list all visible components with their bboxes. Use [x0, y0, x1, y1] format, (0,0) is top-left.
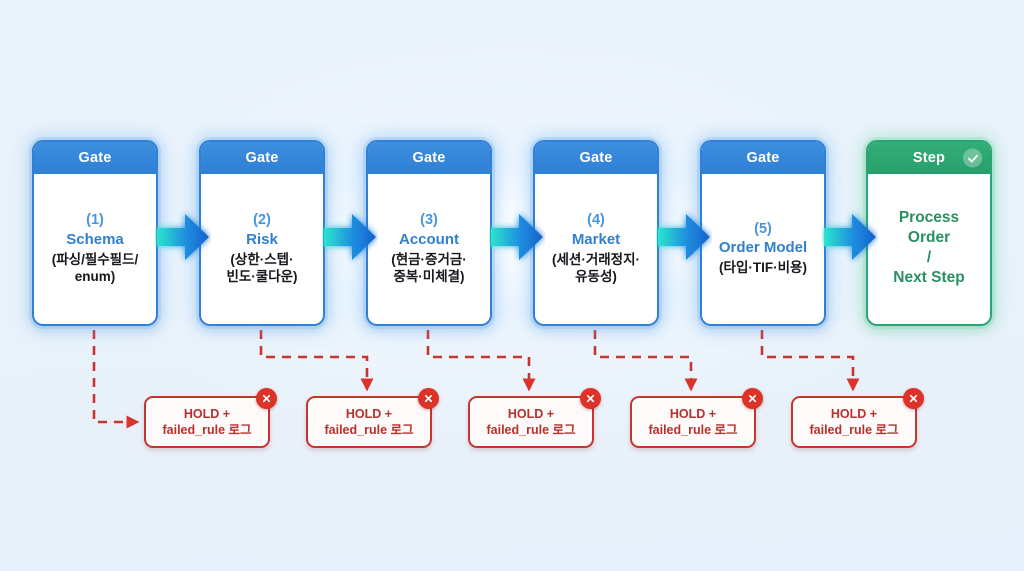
- gate-card-body: (3) Account (현금·증거금· 중복·미체결): [368, 174, 490, 324]
- gate-card-header-label: Gate: [412, 150, 445, 166]
- diagram-canvas: Gate (1) Schema (파싱/필수필드/ enum) Gate (2)…: [0, 0, 1024, 571]
- pipeline-glow: [14, 122, 1010, 347]
- gate-card-5[interactable]: Gate (5) Order Model (타입·TIF·비용): [700, 140, 826, 326]
- gate-number: (5): [754, 220, 772, 238]
- hold-label-line2: failed_rule 로그: [649, 422, 738, 438]
- gate-card-header: Gate: [368, 142, 490, 174]
- gate-card-header-label: Gate: [78, 150, 111, 166]
- hold-box-1[interactable]: HOLD + failed_rule 로그: [144, 396, 270, 448]
- gate-card-body: (4) Market (세션·거래정지· 유동성): [535, 174, 657, 324]
- hold-label-line1: HOLD +: [831, 406, 877, 422]
- gate-number: (1): [86, 211, 104, 229]
- gate-card-header: Gate: [702, 142, 824, 174]
- step-card-header-label: Step: [913, 150, 945, 166]
- gate-card-2[interactable]: Gate (2) Risk (상한·스텝· 빈도·쿨다운): [199, 140, 325, 326]
- gate-number: (2): [253, 211, 271, 229]
- gate-card-header: Gate: [535, 142, 657, 174]
- hold-label-line1: HOLD +: [670, 406, 716, 422]
- gate-card-body: (5) Order Model (타입·TIF·비용): [702, 174, 824, 324]
- x-icon: [256, 388, 277, 409]
- step-card-body: Process Order / Next Step: [868, 174, 990, 324]
- step-card-process-order[interactable]: Step Process Order / Next Step: [866, 140, 992, 326]
- gate-name: Market: [572, 231, 620, 250]
- gate-card-body: (2) Risk (상한·스텝· 빈도·쿨다운): [201, 174, 323, 324]
- gate-number: (4): [587, 211, 605, 229]
- hold-box-2[interactable]: HOLD + failed_rule 로그: [306, 396, 432, 448]
- hold-label-line2: failed_rule 로그: [325, 422, 414, 438]
- gate-card-4[interactable]: Gate (4) Market (세션·거래정지· 유동성): [533, 140, 659, 326]
- gate-card-header: Gate: [34, 142, 156, 174]
- x-icon: [580, 388, 601, 409]
- gate-detail: (타입·TIF·비용): [719, 259, 807, 276]
- gate-detail: (세션·거래정지· 유동성): [552, 251, 640, 285]
- x-icon: [903, 388, 924, 409]
- gate-name: Order Model: [719, 239, 807, 258]
- hold-label-line1: HOLD +: [184, 406, 230, 422]
- gate-card-header-label: Gate: [746, 150, 779, 166]
- gate-number: (3): [420, 211, 438, 229]
- gate-card-header: Gate: [201, 142, 323, 174]
- gate-card-3[interactable]: Gate (3) Account (현금·증거금· 중복·미체결): [366, 140, 492, 326]
- hold-box-5[interactable]: HOLD + failed_rule 로그: [791, 396, 917, 448]
- x-icon: [418, 388, 439, 409]
- hold-label-line2: failed_rule 로그: [487, 422, 576, 438]
- hold-box-4[interactable]: HOLD + failed_rule 로그: [630, 396, 756, 448]
- gate-name: Schema: [66, 231, 124, 250]
- gate-detail: (상한·스텝· 빈도·쿨다운): [226, 251, 297, 285]
- gate-card-body: (1) Schema (파싱/필수필드/ enum): [34, 174, 156, 324]
- hold-label-line2: failed_rule 로그: [163, 422, 252, 438]
- gate-name: Risk: [246, 231, 278, 250]
- hold-label-line2: failed_rule 로그: [810, 422, 899, 438]
- step-name: Process Order / Next Step: [893, 208, 965, 289]
- gate-card-header-label: Gate: [245, 150, 278, 166]
- hold-label-line1: HOLD +: [346, 406, 392, 422]
- step-card-header: Step: [868, 142, 990, 174]
- gate-detail: (파싱/필수필드/ enum): [52, 251, 139, 285]
- gate-detail: (현금·증거금· 중복·미체결): [391, 251, 467, 285]
- check-icon: [963, 149, 982, 168]
- x-icon: [742, 388, 763, 409]
- gate-name: Account: [399, 231, 459, 250]
- gate-card-1[interactable]: Gate (1) Schema (파싱/필수필드/ enum): [32, 140, 158, 326]
- gate-card-header-label: Gate: [579, 150, 612, 166]
- hold-box-3[interactable]: HOLD + failed_rule 로그: [468, 396, 594, 448]
- hold-label-line1: HOLD +: [508, 406, 554, 422]
